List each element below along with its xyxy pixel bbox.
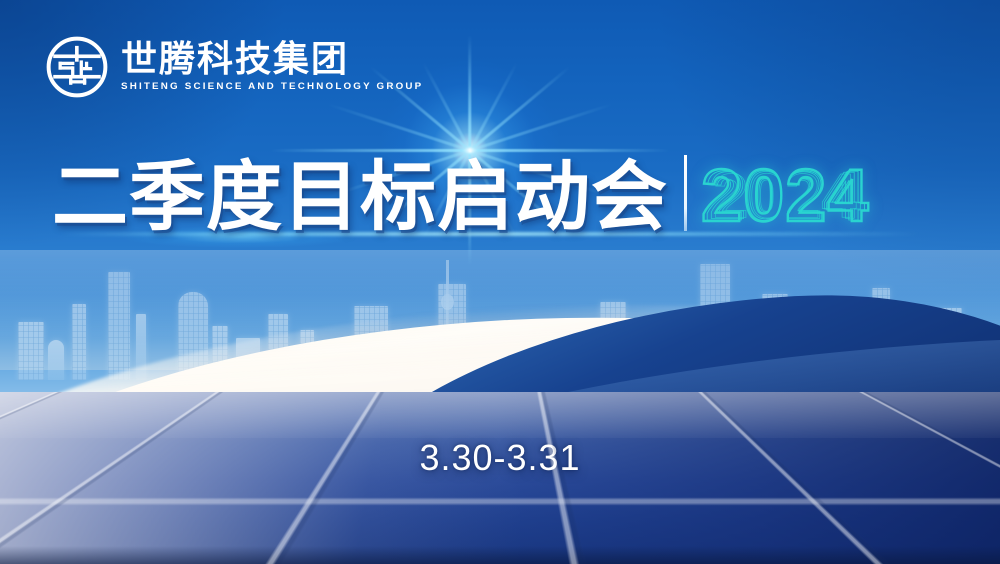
- brand-logo-text: 世腾科技集团 SHITENG SCIENCE AND TECHNOLOGY GR…: [121, 42, 417, 92]
- floor-bottom-shade: [0, 546, 1000, 564]
- event-poster: 世腾科技集团 SHITENG SCIENCE AND TECHNOLOGY GR…: [0, 0, 1000, 564]
- brand-logo: 世腾科技集团 SHITENG SCIENCE AND TECHNOLOGY GR…: [44, 34, 417, 100]
- shiteng-circular-emblem-icon: [44, 34, 110, 100]
- headline-block: 二季度目标启动会 2024 2024 2024 2024: [52, 143, 870, 235]
- brand-name-en: SHITENG SCIENCE AND TECHNOLOGY GROUP: [121, 81, 423, 92]
- year-label: 2024 2024 2024 2024: [701, 159, 870, 233]
- event-date: 3.30-3.31: [0, 437, 1000, 479]
- page-title: 二季度目标启动会: [52, 159, 668, 235]
- floor-sheen: [0, 392, 1000, 438]
- title-divider: [684, 155, 687, 231]
- brand-name-cn: 世腾科技集团: [121, 42, 417, 79]
- year-base: 2024: [701, 154, 870, 237]
